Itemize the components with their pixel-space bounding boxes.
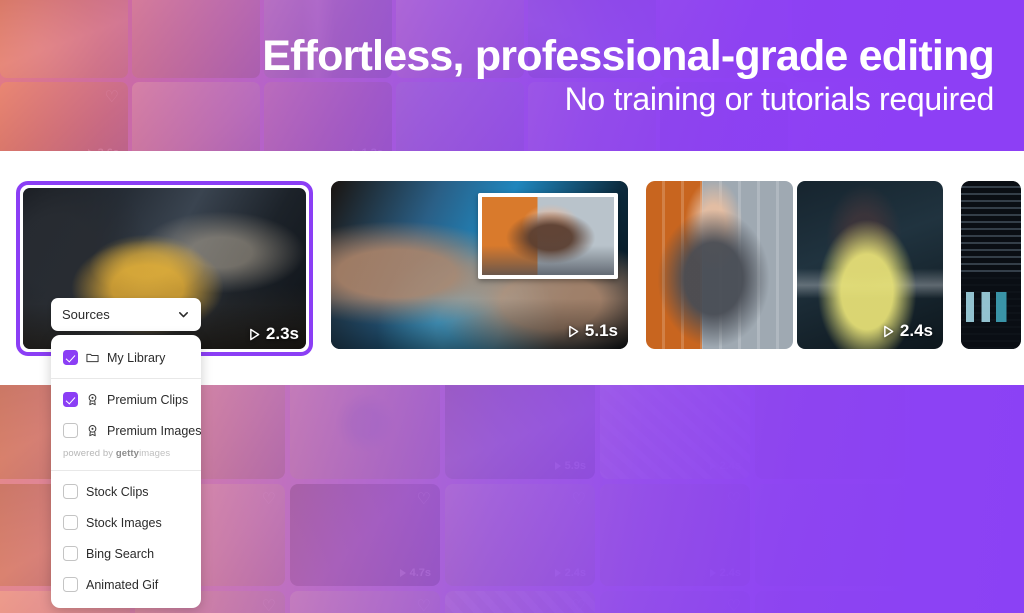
clip-duration-text: 5.1s [585, 321, 618, 341]
hero-subtitle: No training or tutorials required [565, 81, 994, 118]
source-option-premium-images[interactable]: Premium Images [51, 415, 201, 446]
source-option-bing-search[interactable]: Bing Search [51, 538, 201, 569]
sources-dropdown-button[interactable]: Sources [51, 298, 201, 331]
sources-dropdown-label: Sources [62, 307, 110, 322]
play-icon [568, 325, 579, 338]
clip-card[interactable]: 2.4s [646, 181, 943, 349]
source-option-animated-gif[interactable]: Animated Gif [51, 569, 201, 600]
getty-attribution: powered by gettyimages [51, 446, 201, 465]
source-option-label: Stock Clips [86, 485, 149, 499]
folder-icon [86, 351, 99, 364]
split-pane-left [646, 181, 793, 349]
menu-divider [51, 470, 201, 471]
source-option-stock-clips[interactable]: Stock Clips [51, 476, 201, 507]
checkbox-unchecked[interactable] [63, 546, 78, 561]
checkbox-unchecked[interactable] [63, 515, 78, 530]
hero-banner: ♡ 3.6s 1.3s Effortless, professional-gra… [0, 0, 1024, 151]
attribution-brand-bold: getty [116, 448, 139, 459]
premium-badge-icon [86, 424, 99, 437]
picture-in-picture-frame [478, 193, 618, 279]
sources-dropdown-menu: My Library Premium Clips [51, 335, 201, 608]
hero-text-block: Effortless, professional-grade editing N… [0, 0, 1024, 151]
attribution-brand-light: images [139, 448, 170, 459]
attribution-prefix: powered by [63, 448, 116, 459]
source-option-label: Bing Search [86, 547, 154, 561]
checkbox-checked[interactable] [63, 350, 78, 365]
source-option-label: Premium Clips [107, 393, 188, 407]
app-root: ♡ 3.6s 1.3s Effortless, professional-gra… [0, 0, 1024, 613]
sources-dropdown: Sources My Library [51, 298, 201, 608]
checkbox-unchecked[interactable] [63, 423, 78, 438]
clip-duration-badge: 5.1s [568, 321, 618, 341]
source-option-label: Stock Images [86, 516, 162, 530]
premium-badge-icon [86, 393, 99, 406]
clip-duration-badge: 2.3s [249, 324, 299, 344]
clip-duration-text: 2.3s [266, 324, 299, 344]
chevron-down-icon [177, 308, 190, 321]
play-icon [249, 328, 260, 341]
clip-card-partial[interactable] [961, 181, 1021, 349]
clip-thumbnail [961, 181, 1021, 349]
checkbox-unchecked[interactable] [63, 484, 78, 499]
source-option-label: My Library [107, 351, 165, 365]
source-option-stock-images[interactable]: Stock Images [51, 507, 201, 538]
source-option-label: Animated Gif [86, 578, 158, 592]
menu-divider [51, 378, 201, 379]
clip-duration-text: 2.4s [900, 321, 933, 341]
play-icon [883, 325, 894, 338]
hero-title: Effortless, professional-grade editing [262, 34, 994, 79]
source-option-premium-clips[interactable]: Premium Clips [51, 384, 201, 415]
clip-duration-badge: 2.4s [883, 321, 933, 341]
source-option-label: Premium Images [107, 424, 201, 438]
checkbox-unchecked[interactable] [63, 577, 78, 592]
checkbox-checked[interactable] [63, 392, 78, 407]
source-option-my-library[interactable]: My Library [51, 342, 201, 373]
clip-card[interactable]: 5.1s [331, 181, 628, 349]
